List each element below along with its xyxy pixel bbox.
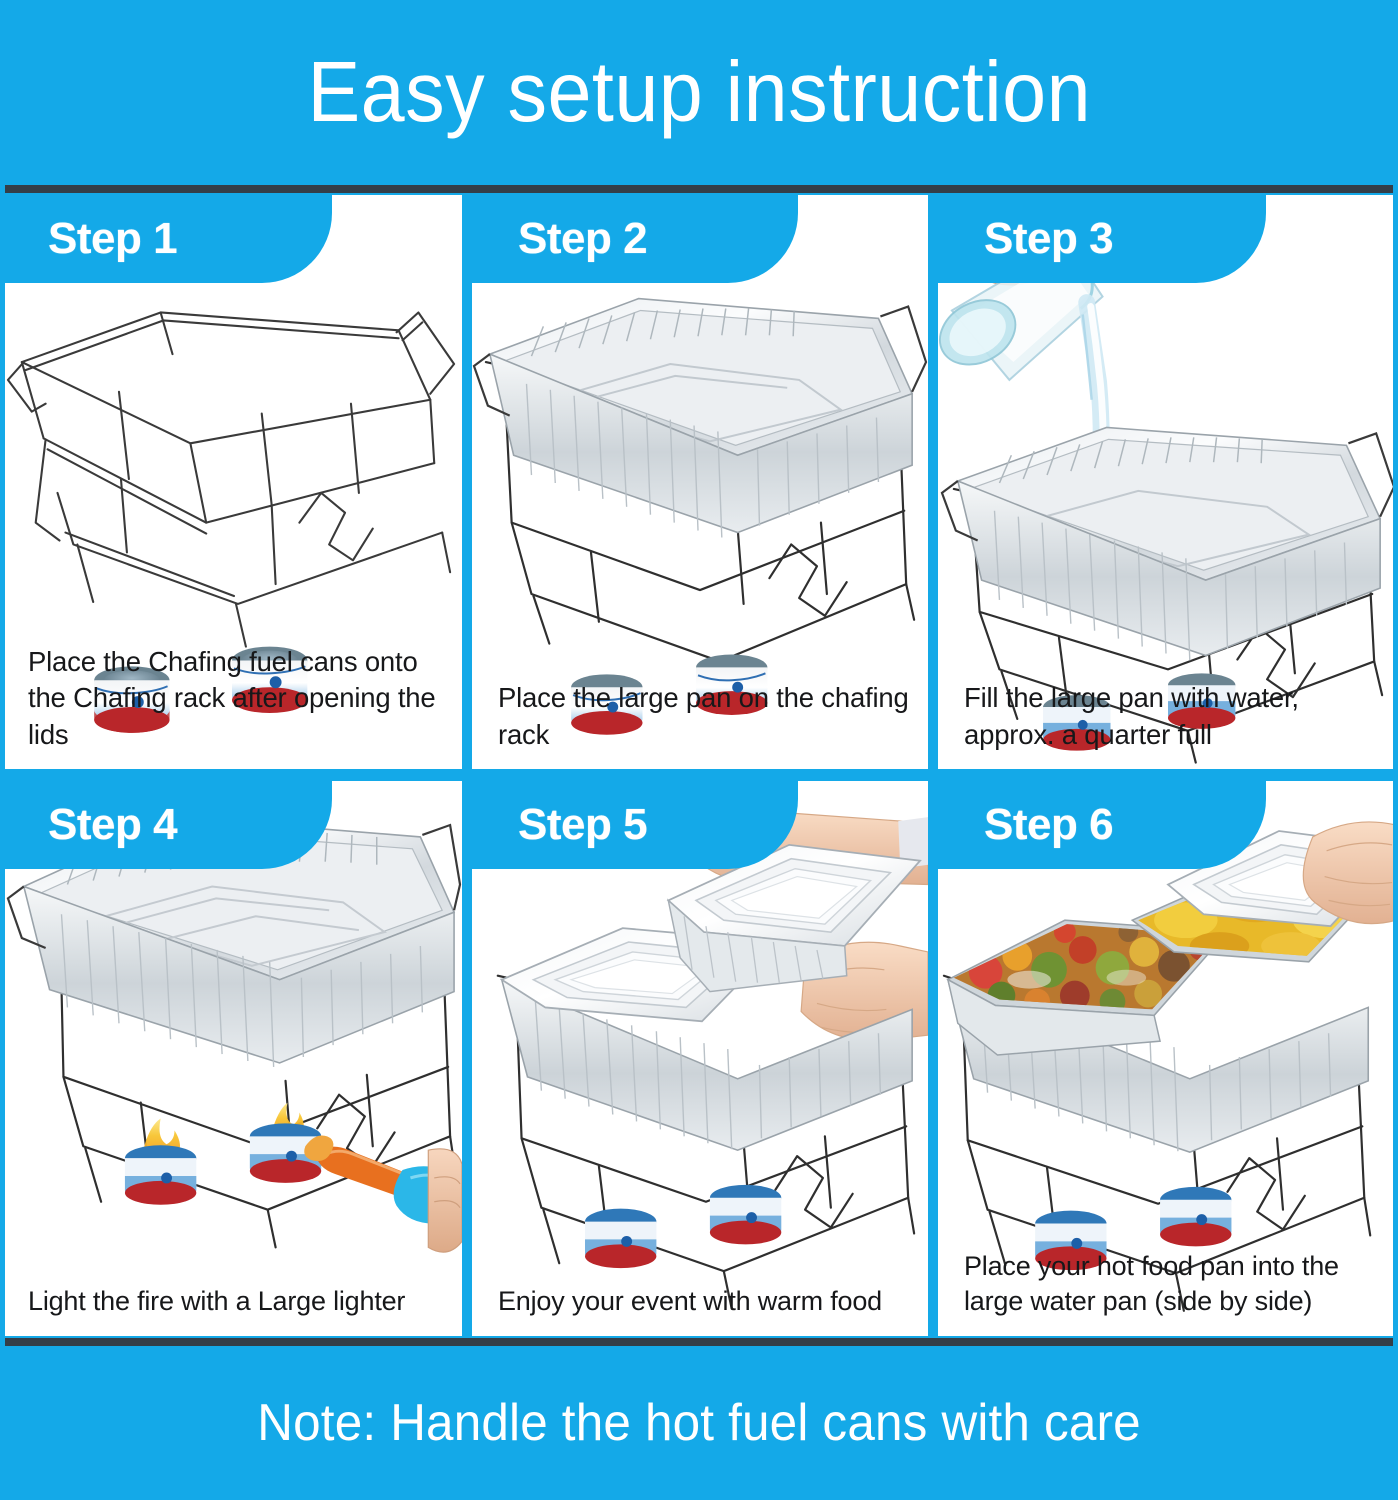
step-badge-1: Step 1 [2, 195, 332, 283]
step-badge-3: Step 3 [938, 195, 1266, 283]
step-card-5: Step 5 Enjoy your event with warm food [470, 779, 930, 1338]
page-edge-left [0, 0, 5, 1500]
step-badge-5: Step 5 [472, 781, 798, 869]
footer-divider-rule [0, 1338, 1398, 1346]
step-card-4: Step 4 Light the fire with a Large light… [0, 779, 464, 1338]
step-badge-label: Step 2 [518, 217, 647, 261]
step-card-2: Step 2 Place the large pan on the chafin… [470, 193, 930, 771]
step-badge-label: Step 6 [984, 803, 1113, 847]
step-badge-6: Step 6 [938, 781, 1266, 869]
step-caption-4: Light the fire with a Large lighter [2, 1284, 462, 1336]
grid-row-gap [0, 771, 1398, 779]
step-caption-1: Place the Chafing fuel cans onto the Cha… [2, 644, 462, 769]
infographic-page: Easy setup instruction [0, 0, 1398, 1500]
page-edge-right [1393, 0, 1398, 1500]
step-caption-5: Enjoy your event with warm food [472, 1284, 928, 1336]
step-card-1: Step 1 Place the Chafing fuel cans onto … [0, 193, 464, 771]
step-badge-label: Step 5 [518, 803, 647, 847]
step-badge-4: Step 4 [2, 781, 332, 869]
step-badge-label: Step 4 [48, 803, 177, 847]
title-divider-rule [0, 185, 1398, 193]
step-card-6: Step 6 Place your hot food pan into the … [936, 779, 1398, 1338]
steps-grid: Step 1 Place the Chafing fuel cans onto … [0, 193, 1398, 1338]
step-caption-2: Place the large pan on the chafing rack [472, 680, 928, 769]
step-badge-label: Step 3 [984, 217, 1113, 261]
title-banner: Easy setup instruction [0, 0, 1398, 185]
step-badge-2: Step 2 [472, 195, 798, 283]
step-card-3: Step 3 Fill the large pan with water, ap… [936, 193, 1398, 771]
footer-note-banner: Note: Handle the hot fuel cans with care [0, 1346, 1398, 1500]
footer-note: Note: Handle the hot fuel cans with care [257, 1393, 1141, 1453]
step-caption-6: Place your hot food pan into the large w… [938, 1249, 1396, 1336]
step-caption-3: Fill the large pan with water, approx. a… [938, 680, 1396, 769]
page-title: Easy setup instruction [307, 50, 1091, 135]
step-badge-label: Step 1 [48, 217, 177, 261]
